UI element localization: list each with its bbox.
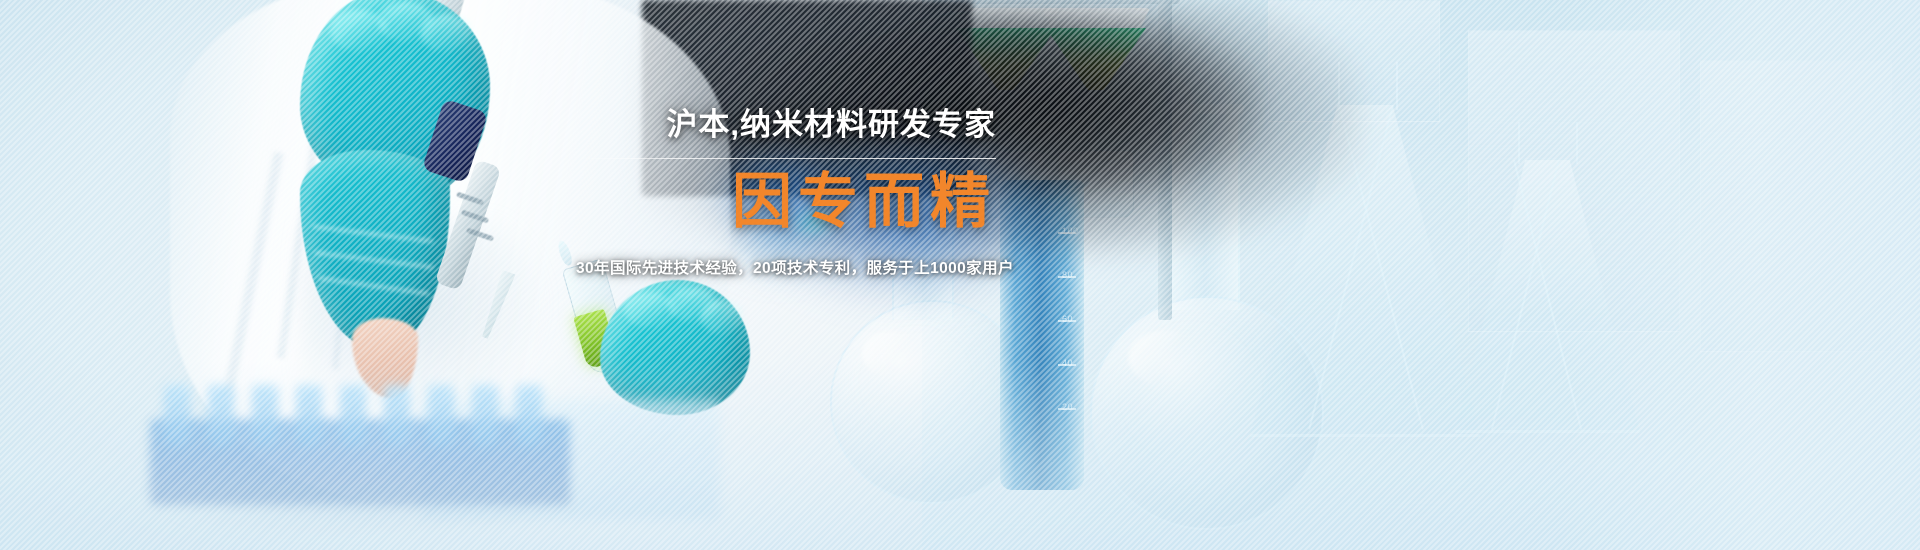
glove-knuckle: [420, 14, 472, 52]
glove-finger: [700, 300, 744, 334]
hero-banner: 100 80 60 40 20: [0, 0, 1920, 550]
cylinder-tick-label: 60: [1062, 314, 1073, 324]
right-fade: [1560, 0, 1920, 550]
headline-divider: [576, 158, 996, 159]
hero-headline: 沪本,纳米材料研发专家: [576, 108, 996, 142]
hero-main-title: 因专而精: [576, 167, 996, 236]
hero-subtitle: 30年国际先进技术经验，20项技术专利，服务于上1000家用户: [576, 256, 996, 278]
hero-text-block: 沪本,纳米材料研发专家 因专而精 30年国际先进技术经验，20项技术专利，服务于…: [576, 108, 996, 278]
